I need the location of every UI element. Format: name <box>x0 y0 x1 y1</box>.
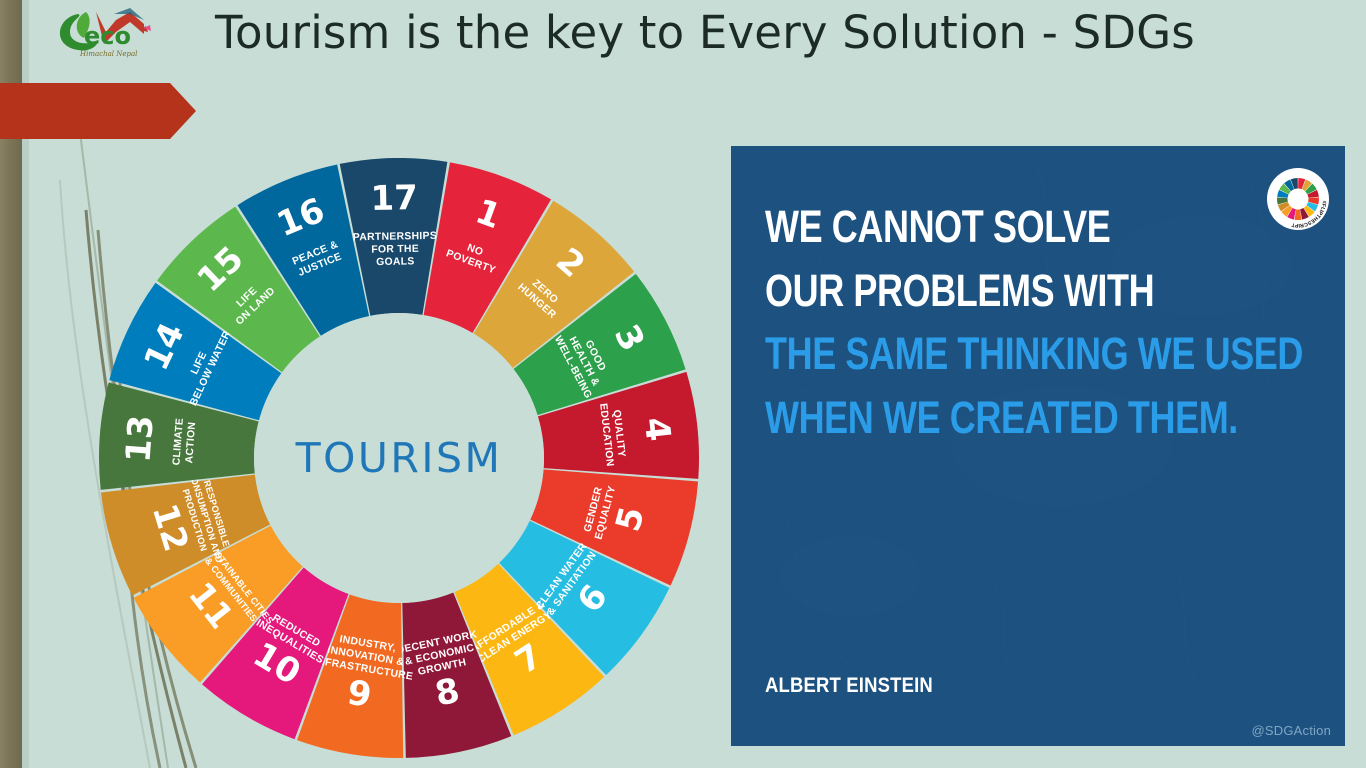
quote-text-block: WE CANNOT SOLVE OUR PROBLEMS WITH THE SA… <box>731 146 1345 746</box>
einstein-quote-panel: #FLIPTHESCRIPT WE CANNOT SOLVE OUR PROBL… <box>731 146 1345 746</box>
red-arrow-banner <box>0 83 196 139</box>
quote-watermark: @SDGAction <box>1252 723 1332 738</box>
quote-line-3: THE SAME THINKING WE USED <box>765 325 1202 383</box>
sdg-number-17: 17 <box>370 178 418 219</box>
quote-attribution: ALBERT EINSTEIN <box>765 674 933 698</box>
svg-text:eco: eco <box>84 22 131 50</box>
sdg-title-line: FOR THE <box>371 244 419 256</box>
quote-line-4: WHEN WE CREATED THEM. <box>765 389 1202 447</box>
sdg-number-4: 4 <box>636 415 678 443</box>
sdg-label-13: 13CLIMATEACTION <box>119 414 199 467</box>
quote-line-2: OUR PROBLEMS WITH <box>765 262 1202 320</box>
svg-text:Himachal Nepal: Himachal Nepal <box>79 50 137 58</box>
eco-logo: eco Himachal Nepal <box>44 6 166 58</box>
page-title: Tourism is the key to Every Solution - S… <box>215 6 1195 59</box>
sdg-wheel: 1NOPOVERTY2ZEROHUNGER3GOODHEALTH &WELL-B… <box>93 158 705 758</box>
quote-line-1: WE CANNOT SOLVE <box>765 198 1202 256</box>
sdg-number-13: 13 <box>119 414 162 464</box>
sdg-title-line: GOALS <box>376 256 415 268</box>
sdg-title-line: PARTNERSHIPS <box>353 231 437 244</box>
